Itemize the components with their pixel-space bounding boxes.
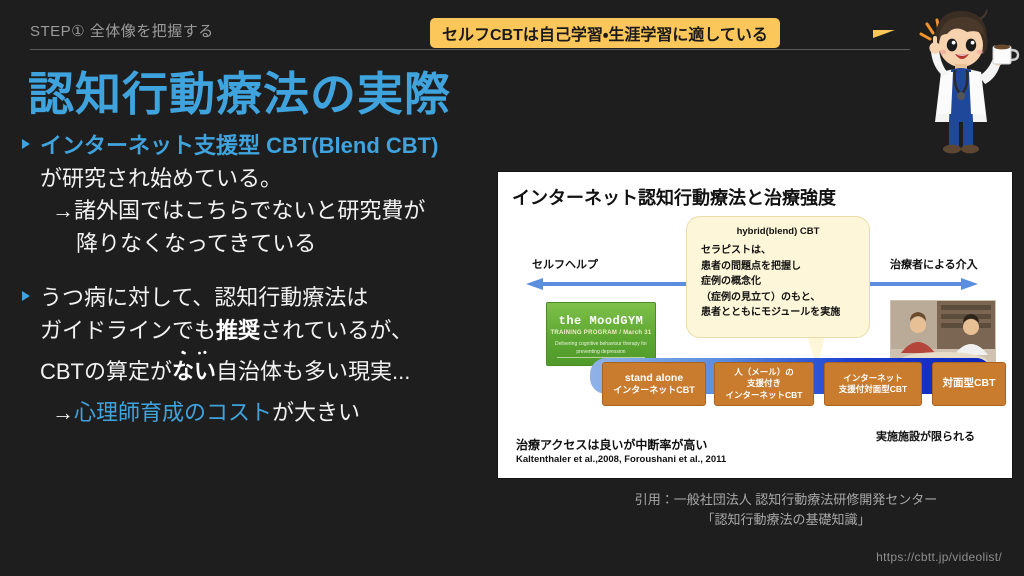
figure-title: インターネット認知行動療法と治療強度 — [512, 184, 836, 210]
doctor-character-illustration — [893, 2, 1021, 154]
figure-note-limited-facilities: 実施施設が限られる — [876, 428, 975, 444]
bullet-2-line-3: CBTの算定がない自治体も多い現実... — [18, 347, 488, 389]
caption-line-2: 「認知行動療法の基礎知識」 — [560, 510, 1012, 530]
cbt-box-line3: インターネットCBT — [726, 390, 803, 401]
callout-line: （症例の見立て）のもと、 — [701, 290, 863, 306]
hybrid-cbt-callout: hybrid(blend) CBT セラピストは、 患者の問題点を把握し 症例の… — [686, 216, 870, 338]
line4-blue-emphasis: 心理師育成のコスト — [74, 400, 272, 425]
banner-tail-shape — [873, 30, 895, 46]
line3-pre: CBTの算定が — [40, 359, 172, 384]
bullet-1-line-2: が研究され始めている。 — [18, 163, 488, 196]
bullet-2-line-2: ガイドラインでも推奨されているが、 — [18, 315, 488, 348]
cbt-box-line1: インターネット — [843, 373, 903, 384]
figure-label-self-help: セルフヘルプ — [532, 256, 598, 272]
page-title: 認知行動療法の実際 — [28, 58, 451, 124]
cbt-box-internet-supported-facetoface: インターネット 支援付対面型CBT — [824, 362, 922, 406]
moodgym-tagline: Delivering cognitive behaviour therapy f… — [547, 341, 655, 356]
cbt-box-line2: 支援付対面型CBT — [839, 384, 907, 395]
caption-line-1: 引用：一般社団法人 認知行動療法研修開発センター — [560, 490, 1012, 510]
line2-post: されているが、 — [260, 318, 413, 343]
line2-emphasis: 推奨 — [216, 318, 260, 343]
bullet-1-line-3: →諸外国ではこちらでないと研究費が — [18, 195, 488, 228]
moodgym-name: the MoodGYM — [547, 314, 655, 328]
body-content: インターネット支援型 CBT(Blend CBT) が研究され始めている。 →諸… — [18, 130, 488, 433]
moodgym-subtitle: TRAINING PROGRAM / March 31 — [547, 330, 655, 336]
cbt-box-line2: インターネットCBT — [613, 385, 695, 396]
bullet-block-1: インターネット支援型 CBT(Blend CBT) が研究され始めている。 →諸… — [18, 130, 488, 260]
source-caption: 引用：一般社団法人 認知行動療法研修開発センター 「認知行動療法の基礎知識」 — [560, 490, 1012, 530]
line4-arrow: → — [52, 400, 74, 425]
bullet-2-line-4: →心理師育成のコストが大きい — [18, 397, 488, 430]
figure-note-access: 治療アクセスは良いが中断率が高い — [516, 436, 707, 453]
bullet-1-line-4: 降りなくなってきている — [18, 228, 488, 261]
figure-citation: Kaltenthaler et al.,2008, Foroushani et … — [516, 454, 726, 465]
header-divider — [30, 49, 910, 50]
bullet-2-line-1: うつ病に対して、認知行動療法は — [18, 282, 488, 315]
highlight-banner-text: セルフCBTは自己学習・生涯学習に適している — [442, 21, 768, 45]
line3-post: 自治体も多い現実... — [216, 359, 410, 384]
callout-line: セラピストは、 — [701, 243, 863, 259]
source-url: https://cbtt.jp/videolist/ — [876, 550, 1002, 564]
step-label: STEP① 全体像を把握する — [30, 20, 214, 41]
line3-dotted-emphasis: ない — [172, 359, 216, 384]
bullet-triangle-icon — [22, 291, 30, 301]
bullet-1-line-1: インターネット支援型 CBT(Blend CBT) — [18, 130, 488, 163]
cbt-box-line2: 支援付き — [747, 378, 781, 389]
moodgym-thumbnail: the MoodGYM TRAINING PROGRAM / March 31 … — [546, 302, 656, 366]
reference-figure: インターネット認知行動療法と治療強度 セルフヘルプ 治療者による介入 the M… — [498, 172, 1012, 478]
cbt-box-line1: 対面型CBT — [942, 377, 995, 390]
line4-post: が大きい — [272, 400, 360, 425]
bullet-block-2: うつ病に対して、認知行動療法は ガイドラインでも推奨されているが、 CBTの算定… — [18, 282, 488, 429]
figure-label-therapist-intervention: 治療者による介入 — [890, 256, 978, 272]
bullet-triangle-icon — [22, 139, 30, 149]
callout-body: セラピストは、 患者の問題点を把握し 症例の概念化 （症例の見立て）のもと、 患… — [701, 243, 863, 321]
line2-pre: ガイドラインでも — [40, 318, 216, 343]
callout-line: 症例の概念化 — [701, 274, 863, 290]
highlight-banner: セルフCBTは自己学習・生涯学習に適している — [430, 18, 780, 48]
cbt-box-human-supported: 人（メール）の 支援付き インターネットCBT — [714, 362, 814, 406]
cbt-box-face-to-face: 対面型CBT — [932, 362, 1006, 406]
cbt-box-line1: 人（メール）の — [734, 367, 794, 378]
cbt-box-stand-alone: stand alone インターネットCBT — [602, 362, 706, 406]
cbt-box-line1: stand alone — [625, 372, 683, 385]
callout-title: hybrid(blend) CBT — [687, 226, 869, 237]
callout-line: 患者とともにモジュールを実施 — [701, 305, 863, 321]
slide-root: STEP① 全体像を把握する 認知行動療法の実際 セルフCBTは自己学習・生涯学… — [0, 0, 1024, 576]
callout-line: 患者の問題点を把握し — [701, 259, 863, 275]
